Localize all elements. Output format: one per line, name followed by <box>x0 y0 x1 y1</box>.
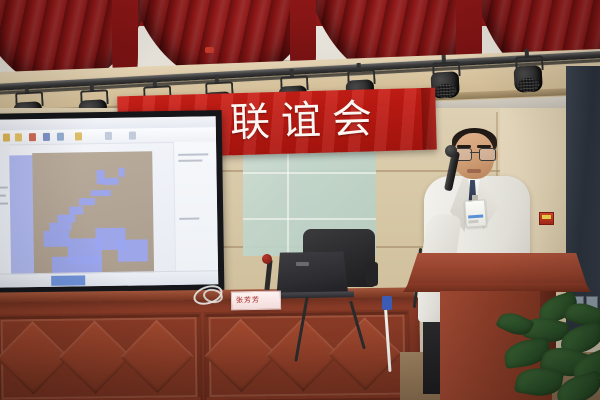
toolbar-icon <box>43 133 50 141</box>
app-taskbar <box>0 270 218 287</box>
toolbar-icon <box>57 133 64 141</box>
name-plate: 张芳芳 <box>231 291 281 311</box>
banner-text: 联谊会 <box>229 95 383 147</box>
toolbar-icon <box>15 133 22 141</box>
toolbar-icon <box>129 132 136 140</box>
banner-fold-shadow <box>421 88 437 150</box>
stage-front-panelling <box>0 297 421 400</box>
diamond-motif <box>328 317 402 391</box>
ceiling-indicator-light <box>205 47 214 53</box>
power-adapter <box>382 296 392 310</box>
projection-screen <box>0 110 224 296</box>
image-canvas <box>32 151 154 281</box>
conference-hall-photo: 校 联谊会 <box>0 0 600 400</box>
toolbar-icon <box>75 132 82 140</box>
wood-panel <box>205 312 408 400</box>
lectern-top <box>407 253 587 286</box>
microphone-head <box>445 145 457 157</box>
app-side-panel <box>173 141 218 271</box>
laptop[interactable] <box>276 251 349 296</box>
eyeglasses-icon <box>455 148 494 160</box>
id-badge <box>464 199 487 227</box>
image-blue-band <box>9 155 35 281</box>
chair-armrest <box>366 262 378 286</box>
projected-image <box>0 116 218 287</box>
diamond-motif <box>120 320 194 394</box>
toolbar-icon <box>3 134 10 142</box>
mouth <box>467 169 481 173</box>
wood-panel <box>0 314 201 400</box>
toolbar-icon <box>29 133 36 141</box>
laptop-brand-mark <box>296 262 309 266</box>
fire-alarm-icon <box>539 212 554 225</box>
desk-microphone-head <box>262 254 272 264</box>
potted-ficus <box>498 296 600 400</box>
taskbar-active-item <box>51 275 85 286</box>
name-plate-text: 张芳芳 <box>236 295 260 305</box>
par-spotlight-icon <box>512 55 544 97</box>
toolbar-icon <box>105 132 112 140</box>
